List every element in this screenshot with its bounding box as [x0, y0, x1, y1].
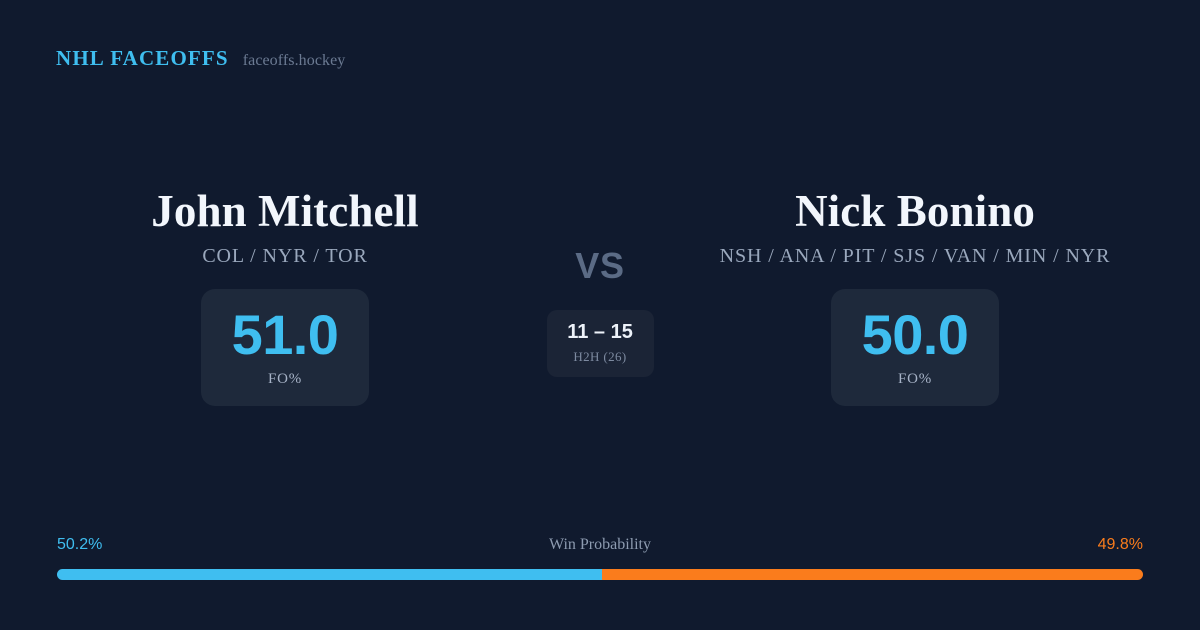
head-to-head-score: 11 – 15: [567, 322, 633, 342]
head-to-head-box: 11 – 15 H2H (26): [547, 310, 654, 377]
win-probability-right-value: 49.8%: [1098, 536, 1143, 554]
head-to-head-label: H2H (26): [573, 349, 626, 365]
stat-card-right: 50.0 FO%: [831, 289, 999, 406]
win-probability-labels: 50.2% Win Probability 49.8%: [57, 536, 1143, 558]
player-name-right: Nick Bonino: [795, 186, 1035, 236]
win-probability-section: 50.2% Win Probability 49.8%: [57, 536, 1143, 580]
win-probability-bar-left-segment: [57, 569, 602, 580]
player-teams-left: COL / NYR / TOR: [202, 245, 367, 268]
matchup-section: John Mitchell COL / NYR / TOR 51.0 FO% V…: [0, 186, 1200, 406]
vs-label: VS: [575, 248, 624, 284]
stat-label-right: FO%: [898, 371, 932, 388]
player-card-left: John Mitchell COL / NYR / TOR 51.0 FO%: [50, 186, 520, 406]
versus-section: VS 11 – 15 H2H (26): [520, 186, 680, 377]
win-probability-title: Win Probability: [57, 536, 1143, 554]
faceoff-percent-left: 51.0: [232, 307, 339, 363]
site-domain: faceoffs.hockey: [243, 52, 346, 70]
site-header: NHL FACEOFFS faceoffs.hockey: [56, 46, 345, 71]
player-teams-right: NSH / ANA / PIT / SJS / VAN / MIN / NYR: [720, 245, 1111, 268]
stat-card-left: 51.0 FO%: [201, 289, 369, 406]
win-probability-bar: [57, 569, 1143, 580]
faceoff-percent-right: 50.0: [862, 307, 969, 363]
stat-label-left: FO%: [268, 371, 302, 388]
player-card-right: Nick Bonino NSH / ANA / PIT / SJS / VAN …: [680, 186, 1150, 406]
brand-title: NHL FACEOFFS: [56, 46, 229, 71]
win-probability-bar-right-segment: [602, 569, 1143, 580]
player-name-left: John Mitchell: [151, 186, 418, 236]
